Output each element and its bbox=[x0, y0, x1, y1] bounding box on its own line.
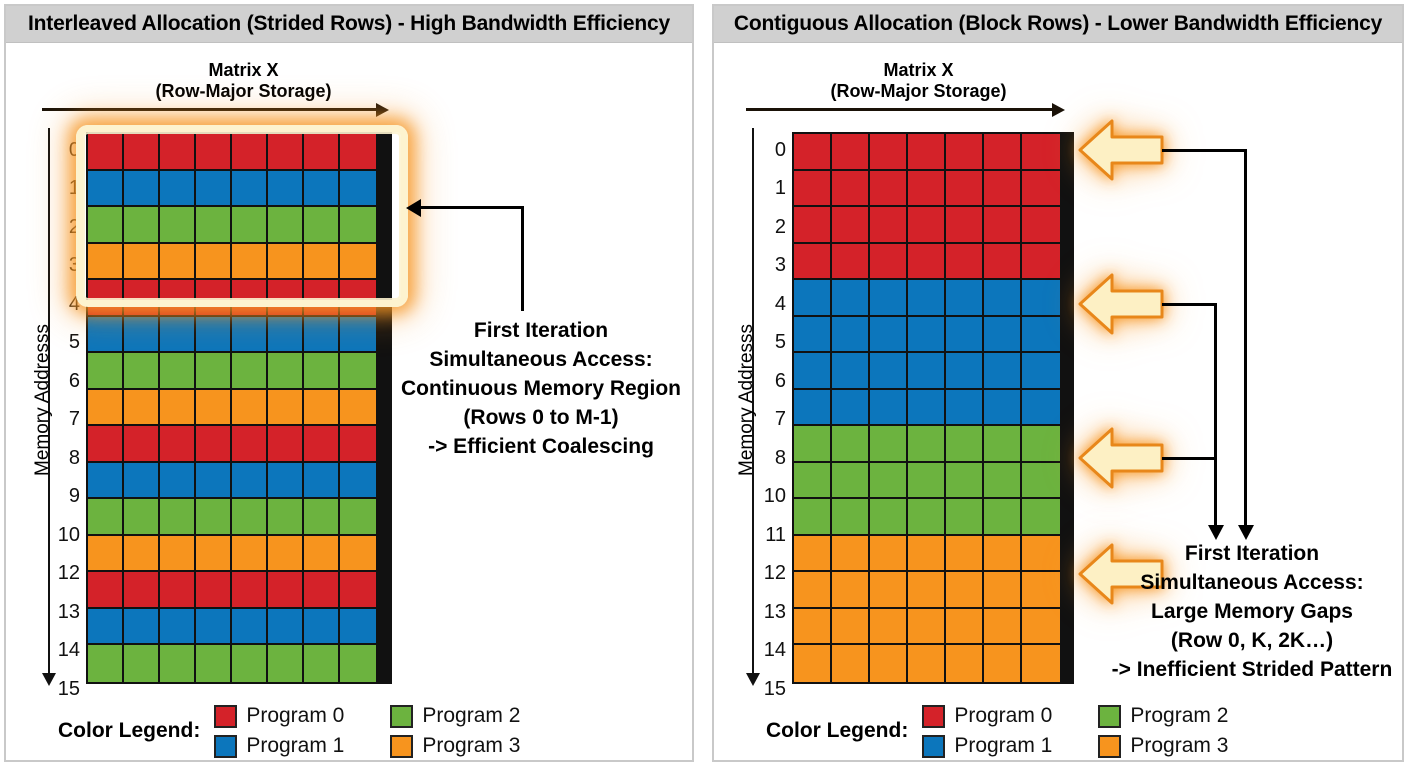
memory-cell bbox=[160, 353, 196, 390]
memory-cell bbox=[268, 645, 304, 682]
memory-cell bbox=[88, 390, 124, 427]
memory-cell bbox=[984, 390, 1022, 427]
connector-arrowhead-near bbox=[1208, 525, 1224, 540]
legend-label: Program 0 bbox=[246, 704, 344, 728]
memory-cell bbox=[124, 572, 160, 609]
legend-item: Program 3 bbox=[390, 731, 520, 761]
annotation-left: First Iteration Simultaneous Access: Con… bbox=[396, 316, 686, 461]
memory-cell bbox=[124, 244, 160, 281]
memory-cell bbox=[946, 244, 984, 281]
memory-cell bbox=[870, 207, 908, 244]
memory-cell bbox=[1022, 207, 1060, 244]
memory-cell bbox=[196, 171, 232, 208]
row-index-label: 10 bbox=[754, 479, 786, 516]
row-index-label: 8 bbox=[754, 440, 786, 477]
memory-cell bbox=[1022, 134, 1060, 171]
memory-cell bbox=[340, 426, 376, 463]
memory-cell bbox=[340, 463, 376, 500]
memory-cell bbox=[124, 207, 160, 244]
memory-cell bbox=[870, 280, 908, 317]
memory-cell bbox=[946, 390, 984, 427]
memory-cell bbox=[160, 463, 196, 500]
connector-h-0 bbox=[1162, 149, 1247, 152]
panel-contiguous-allocation: Contiguous Allocation (Block Rows) - Low… bbox=[712, 4, 1404, 762]
row-index-label: 6 bbox=[754, 363, 786, 400]
memory-cell bbox=[88, 244, 124, 281]
memory-cell bbox=[908, 353, 946, 390]
memory-cell bbox=[160, 536, 196, 573]
memory-cell bbox=[196, 134, 232, 171]
row-index-label: 7 bbox=[50, 402, 80, 439]
memory-cell bbox=[160, 171, 196, 208]
row-index-label: 10 bbox=[50, 517, 80, 554]
legend-swatch bbox=[390, 705, 413, 728]
row-index-label: 2 bbox=[50, 209, 80, 246]
memory-cell bbox=[984, 645, 1022, 682]
memory-cell bbox=[908, 609, 946, 646]
matrix-caption-right: Matrix X (Row-Major Storage) bbox=[766, 60, 1071, 102]
memory-cell bbox=[832, 134, 870, 171]
matrix-subtitle-right: (Row-Major Storage) bbox=[766, 81, 1071, 102]
memory-cell bbox=[124, 645, 160, 682]
memory-cell bbox=[340, 134, 376, 171]
memory-row bbox=[794, 499, 1072, 536]
memory-cell bbox=[124, 426, 160, 463]
memory-cell bbox=[304, 280, 340, 317]
memory-cell bbox=[268, 609, 304, 646]
memory-row bbox=[88, 390, 390, 427]
memory-cell bbox=[908, 426, 946, 463]
annotation-left-line-2: Continuous Memory Region bbox=[396, 374, 686, 403]
legend-swatch bbox=[922, 705, 945, 728]
memory-cell bbox=[832, 353, 870, 390]
memory-cell bbox=[124, 390, 160, 427]
memory-cell bbox=[832, 317, 870, 354]
memory-cell bbox=[124, 609, 160, 646]
memory-cell bbox=[984, 244, 1022, 281]
memory-row bbox=[794, 645, 1072, 682]
row-labels-left: 01234567891012131415 bbox=[50, 132, 80, 684]
memory-cell bbox=[304, 426, 340, 463]
memory-cell bbox=[160, 572, 196, 609]
memory-grid-left bbox=[86, 132, 392, 684]
memory-cell bbox=[124, 134, 160, 171]
memory-cell bbox=[870, 134, 908, 171]
legend-item: Program 3 bbox=[1098, 731, 1228, 761]
memory-cell bbox=[946, 609, 984, 646]
memory-cell bbox=[160, 244, 196, 281]
memory-cell bbox=[88, 572, 124, 609]
memory-cell bbox=[304, 536, 340, 573]
memory-cell bbox=[794, 499, 832, 536]
legend-swatch bbox=[214, 705, 237, 728]
row-index-label: 7 bbox=[754, 402, 786, 439]
memory-cell bbox=[984, 317, 1022, 354]
memory-row bbox=[794, 536, 1072, 573]
memory-cell bbox=[340, 244, 376, 281]
memory-row bbox=[794, 317, 1072, 354]
memory-cell bbox=[946, 171, 984, 208]
memory-cell bbox=[1022, 499, 1060, 536]
memory-cell bbox=[304, 572, 340, 609]
panel-left-title: Interleaved Allocation (Strided Rows) - … bbox=[6, 6, 692, 43]
memory-cell bbox=[870, 536, 908, 573]
memory-cell bbox=[268, 572, 304, 609]
memory-cell bbox=[870, 244, 908, 281]
memory-cell bbox=[908, 280, 946, 317]
memory-cell bbox=[340, 609, 376, 646]
memory-cell bbox=[160, 134, 196, 171]
legend-swatch bbox=[214, 735, 237, 758]
row-index-label: 12 bbox=[754, 556, 786, 593]
matrix-subtitle-left: (Row-Major Storage) bbox=[91, 81, 396, 102]
memory-row bbox=[794, 207, 1072, 244]
memory-cell bbox=[870, 645, 908, 682]
access-arrow-1 bbox=[1078, 273, 1164, 335]
row-index-label: 5 bbox=[754, 325, 786, 362]
memory-row bbox=[794, 280, 1072, 317]
memory-cell bbox=[124, 463, 160, 500]
memory-cell bbox=[794, 536, 832, 573]
memory-cell bbox=[232, 207, 268, 244]
row-index-label: 0 bbox=[754, 132, 786, 169]
memory-cell bbox=[268, 134, 304, 171]
annotation-left-line-1: Simultaneous Access: bbox=[396, 345, 686, 374]
memory-cell bbox=[1022, 536, 1060, 573]
memory-cell bbox=[196, 463, 232, 500]
memory-row bbox=[88, 609, 390, 646]
legend-label: Program 2 bbox=[1130, 704, 1228, 728]
memory-cell bbox=[340, 499, 376, 536]
memory-cell bbox=[946, 499, 984, 536]
memory-cell bbox=[340, 317, 376, 354]
color-legend-right: Color Legend:Program 0Program 1Program 2… bbox=[766, 701, 1228, 761]
memory-cell bbox=[268, 499, 304, 536]
memory-cell bbox=[984, 207, 1022, 244]
memory-cell bbox=[160, 499, 196, 536]
access-arrow-2 bbox=[1078, 427, 1164, 489]
memory-cell bbox=[196, 536, 232, 573]
memory-row bbox=[88, 426, 390, 463]
memory-cell bbox=[232, 499, 268, 536]
memory-cell bbox=[832, 171, 870, 208]
legend-column-0: Program 0Program 1 bbox=[214, 701, 344, 761]
legend-swatch bbox=[1098, 735, 1121, 758]
memory-cell bbox=[304, 499, 340, 536]
memory-cell bbox=[160, 390, 196, 427]
memory-cell bbox=[984, 171, 1022, 208]
memory-cell bbox=[1022, 171, 1060, 208]
memory-cell bbox=[794, 317, 832, 354]
memory-cell bbox=[946, 317, 984, 354]
diagram-canvas: Interleaved Allocation (Strided Rows) - … bbox=[0, 0, 1408, 768]
memory-cell bbox=[984, 426, 1022, 463]
memory-cell bbox=[832, 426, 870, 463]
memory-cell bbox=[340, 207, 376, 244]
memory-cell bbox=[832, 499, 870, 536]
legend-label: Program 2 bbox=[422, 704, 520, 728]
memory-cell bbox=[870, 317, 908, 354]
row-index-label: 1 bbox=[754, 171, 786, 208]
memory-cell bbox=[124, 499, 160, 536]
memory-cell bbox=[232, 572, 268, 609]
annotation-right: First Iteration Simultaneous Access: Lar… bbox=[1104, 539, 1400, 684]
connector-h-2 bbox=[1162, 457, 1217, 460]
row-index-label: 8 bbox=[50, 440, 80, 477]
legend-label: Program 3 bbox=[422, 734, 520, 758]
memory-cell bbox=[232, 171, 268, 208]
legend-label: Program 0 bbox=[954, 704, 1052, 728]
memory-grid-right bbox=[792, 132, 1074, 684]
memory-row bbox=[794, 426, 1072, 463]
memory-cell bbox=[794, 280, 832, 317]
memory-cell bbox=[88, 353, 124, 390]
memory-cell bbox=[268, 207, 304, 244]
memory-cell bbox=[88, 499, 124, 536]
row-index-label: 6 bbox=[50, 363, 80, 400]
memory-row bbox=[794, 244, 1072, 281]
memory-cell bbox=[984, 280, 1022, 317]
memory-row bbox=[88, 645, 390, 682]
memory-cell bbox=[88, 171, 124, 208]
memory-cell bbox=[870, 463, 908, 500]
row-major-direction-arrow-right bbox=[746, 103, 1066, 117]
memory-cell bbox=[268, 426, 304, 463]
legend-column-0: Program 0Program 1 bbox=[922, 701, 1052, 761]
memory-cell bbox=[124, 317, 160, 354]
row-labels-right: 012345678101112131415 bbox=[754, 132, 786, 684]
memory-cell bbox=[908, 134, 946, 171]
memory-cell bbox=[832, 536, 870, 573]
memory-row bbox=[794, 353, 1072, 390]
memory-cell bbox=[832, 463, 870, 500]
memory-cell bbox=[794, 244, 832, 281]
memory-cell bbox=[908, 536, 946, 573]
memory-cell bbox=[832, 609, 870, 646]
memory-cell bbox=[1022, 572, 1060, 609]
memory-cell bbox=[232, 426, 268, 463]
memory-cell bbox=[946, 645, 984, 682]
memory-cell bbox=[304, 244, 340, 281]
memory-cell bbox=[340, 645, 376, 682]
memory-cell bbox=[908, 463, 946, 500]
memory-cell bbox=[794, 353, 832, 390]
memory-cell bbox=[908, 390, 946, 427]
annotation-left-line-3: (Rows 0 to M-1) bbox=[396, 403, 686, 432]
memory-cell bbox=[870, 426, 908, 463]
legend-item: Program 2 bbox=[390, 701, 520, 731]
memory-cell bbox=[1022, 463, 1060, 500]
connector-arrowhead-far bbox=[1238, 525, 1254, 540]
memory-cell bbox=[984, 572, 1022, 609]
annotation-right-line-0: First Iteration bbox=[1104, 539, 1400, 568]
memory-cell bbox=[946, 134, 984, 171]
memory-cell bbox=[984, 134, 1022, 171]
memory-row bbox=[88, 280, 390, 317]
row-index-label: 3 bbox=[50, 248, 80, 285]
memory-cell bbox=[1022, 317, 1060, 354]
memory-cell bbox=[232, 353, 268, 390]
memory-cell bbox=[88, 463, 124, 500]
memory-cell bbox=[196, 609, 232, 646]
memory-cell bbox=[794, 572, 832, 609]
memory-cell bbox=[88, 645, 124, 682]
memory-cell bbox=[870, 171, 908, 208]
memory-cell bbox=[1022, 390, 1060, 427]
memory-cell bbox=[1022, 426, 1060, 463]
memory-cell bbox=[908, 171, 946, 208]
memory-cell bbox=[88, 317, 124, 354]
memory-cell bbox=[196, 426, 232, 463]
memory-cell bbox=[196, 499, 232, 536]
memory-cell bbox=[196, 572, 232, 609]
memory-row bbox=[88, 134, 390, 171]
memory-cell bbox=[196, 390, 232, 427]
connector-h-1 bbox=[1162, 303, 1217, 306]
callout-arrowhead-left bbox=[406, 199, 421, 217]
memory-cell bbox=[1022, 645, 1060, 682]
memory-cell bbox=[794, 463, 832, 500]
memory-cell bbox=[196, 244, 232, 281]
annotation-right-line-1: Simultaneous Access: bbox=[1104, 568, 1400, 597]
legend-item: Program 2 bbox=[1098, 701, 1228, 731]
legend-label: Program 3 bbox=[1130, 734, 1228, 758]
matrix-title-right: Matrix X bbox=[766, 60, 1071, 81]
memory-cell bbox=[232, 280, 268, 317]
memory-cell bbox=[304, 645, 340, 682]
row-index-label: 14 bbox=[50, 633, 80, 670]
memory-row bbox=[794, 572, 1072, 609]
memory-cell bbox=[340, 390, 376, 427]
memory-cell bbox=[832, 390, 870, 427]
annotation-left-line-4: -> Efficient Coalescing bbox=[396, 432, 686, 461]
legend-label: Program 1 bbox=[954, 734, 1052, 758]
memory-cell bbox=[160, 280, 196, 317]
connector-v-far bbox=[1244, 149, 1247, 525]
memory-cell bbox=[124, 280, 160, 317]
memory-cell bbox=[870, 609, 908, 646]
memory-cell bbox=[984, 499, 1022, 536]
memory-cell bbox=[946, 353, 984, 390]
memory-cell bbox=[268, 317, 304, 354]
memory-cell bbox=[1022, 280, 1060, 317]
legend-title: Color Legend: bbox=[58, 719, 200, 743]
memory-cell bbox=[946, 572, 984, 609]
callout-line-horizontal-left bbox=[420, 206, 524, 209]
legend-column-1: Program 2Program 3 bbox=[390, 701, 520, 761]
memory-cell bbox=[88, 280, 124, 317]
memory-cell bbox=[794, 390, 832, 427]
memory-row bbox=[88, 317, 390, 354]
connector-v-near bbox=[1214, 303, 1217, 525]
memory-cell bbox=[832, 244, 870, 281]
memory-cell bbox=[908, 207, 946, 244]
memory-row bbox=[794, 463, 1072, 500]
memory-cell bbox=[340, 572, 376, 609]
memory-cell bbox=[88, 536, 124, 573]
memory-cell bbox=[232, 536, 268, 573]
memory-cell bbox=[984, 536, 1022, 573]
memory-row bbox=[88, 572, 390, 609]
memory-cell bbox=[232, 463, 268, 500]
memory-cell bbox=[124, 171, 160, 208]
memory-cell bbox=[908, 645, 946, 682]
annotation-right-line-4: -> Inefficient Strided Pattern bbox=[1104, 655, 1400, 684]
access-arrow-0 bbox=[1078, 119, 1164, 181]
memory-cell bbox=[268, 171, 304, 208]
memory-cell bbox=[908, 317, 946, 354]
legend-columns: Program 0Program 1Program 2Program 3 bbox=[214, 701, 520, 761]
memory-cell bbox=[908, 572, 946, 609]
memory-cell bbox=[268, 463, 304, 500]
memory-cell bbox=[794, 171, 832, 208]
memory-cell bbox=[232, 244, 268, 281]
memory-cell bbox=[124, 353, 160, 390]
memory-cell bbox=[908, 244, 946, 281]
legend-swatch bbox=[1098, 705, 1121, 728]
memory-cell bbox=[908, 499, 946, 536]
memory-cell bbox=[88, 207, 124, 244]
legend-item: Program 0 bbox=[214, 701, 344, 731]
memory-cell bbox=[870, 390, 908, 427]
memory-row bbox=[88, 171, 390, 208]
memory-cell bbox=[88, 134, 124, 171]
memory-cell bbox=[232, 390, 268, 427]
memory-cell bbox=[124, 536, 160, 573]
memory-cell bbox=[946, 280, 984, 317]
memory-cell bbox=[160, 609, 196, 646]
memory-cell bbox=[268, 353, 304, 390]
memory-row bbox=[88, 463, 390, 500]
memory-cell bbox=[1022, 244, 1060, 281]
legend-title: Color Legend: bbox=[766, 719, 908, 743]
legend-item: Program 1 bbox=[922, 731, 1052, 761]
legend-columns: Program 0Program 1Program 2Program 3 bbox=[922, 701, 1228, 761]
legend-swatch bbox=[922, 735, 945, 758]
row-index-label: 4 bbox=[50, 286, 80, 323]
row-index-label: 13 bbox=[754, 594, 786, 631]
memory-cell bbox=[946, 207, 984, 244]
memory-cell bbox=[984, 609, 1022, 646]
memory-cell bbox=[232, 317, 268, 354]
row-index-label: 1 bbox=[50, 171, 80, 208]
row-major-direction-arrow-left bbox=[42, 103, 390, 117]
memory-cell bbox=[160, 645, 196, 682]
memory-cell bbox=[794, 609, 832, 646]
memory-cell bbox=[160, 317, 196, 354]
row-index-label: 5 bbox=[50, 325, 80, 362]
memory-cell bbox=[870, 499, 908, 536]
memory-cell bbox=[794, 645, 832, 682]
memory-cell bbox=[88, 426, 124, 463]
memory-cell bbox=[304, 463, 340, 500]
memory-cell bbox=[870, 572, 908, 609]
memory-row bbox=[794, 390, 1072, 427]
row-index-label: 14 bbox=[754, 633, 786, 670]
memory-cell bbox=[160, 426, 196, 463]
memory-cell bbox=[196, 280, 232, 317]
legend-item: Program 1 bbox=[214, 731, 344, 761]
memory-row bbox=[794, 171, 1072, 208]
memory-cell bbox=[304, 390, 340, 427]
memory-cell bbox=[832, 207, 870, 244]
memory-row bbox=[794, 134, 1072, 171]
memory-cell bbox=[794, 426, 832, 463]
memory-cell bbox=[304, 317, 340, 354]
memory-cell bbox=[268, 280, 304, 317]
memory-cell bbox=[304, 171, 340, 208]
legend-column-1: Program 2Program 3 bbox=[1098, 701, 1228, 761]
